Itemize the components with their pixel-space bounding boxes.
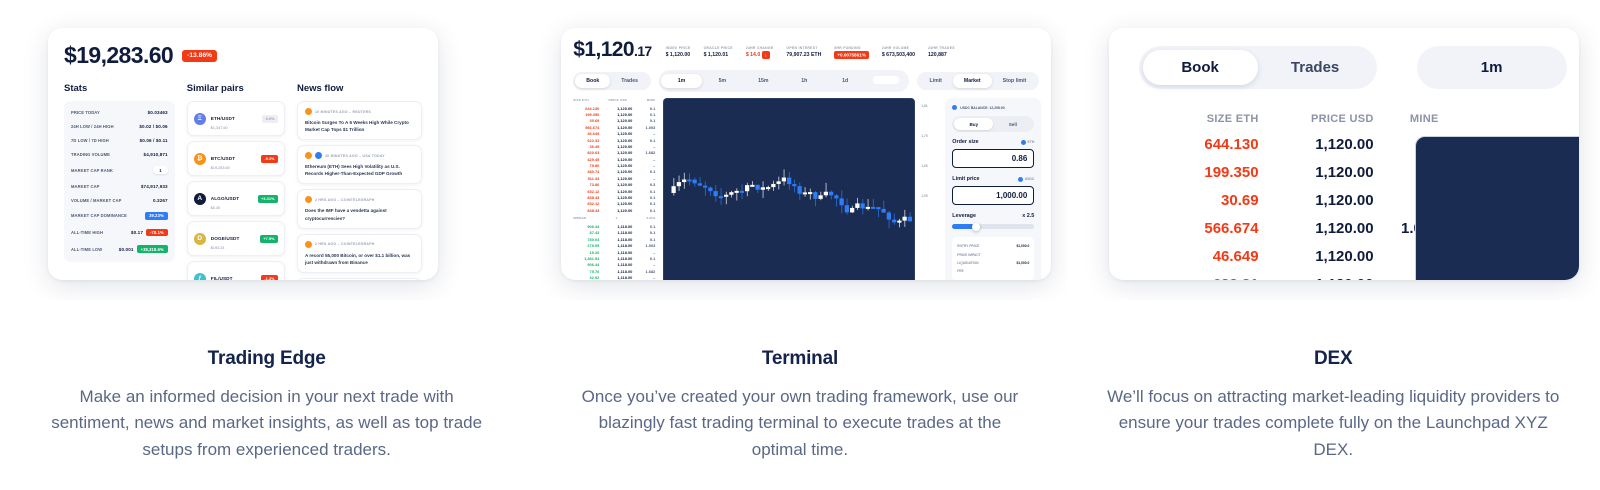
header-stat: ORACLE PRICE$ 1,120.01	[704, 46, 733, 59]
ob-size: 199.350	[573, 112, 599, 117]
ob-size: 429.49	[573, 157, 599, 162]
timeframe-15m[interactable]: 15m	[743, 74, 784, 88]
stat-rank-bubble: 1	[153, 166, 168, 174]
ob-size: 32.92	[573, 275, 599, 280]
book-trades-tabs[interactable]: BookTrades	[573, 72, 651, 90]
stat-number: $ 1,120.01	[704, 52, 729, 58]
dex-price: 1,120.00	[1259, 220, 1374, 237]
news-headline: Does the IMF have a vendetta against cry…	[305, 207, 414, 221]
ob-size: 838.43	[573, 195, 599, 200]
stat-value: $0.001 +38,318.6%	[119, 245, 168, 253]
news-item[interactable]: 2 HRS AGO – REUTERSNasdaq Composite Loss…	[297, 278, 422, 280]
ob-price: 1,118.00	[604, 250, 632, 255]
news-item[interactable]: 2 HRS AGO – COINTELEGRAPHDoes the IMF ha…	[297, 189, 422, 228]
stat-row: ALL-TIME LOW$0.001 +38,318.6%	[71, 241, 168, 258]
feature-title: Terminal	[533, 348, 1066, 370]
header-stat-value: $ 1,120.01	[704, 52, 733, 58]
news-item[interactable]: 10 MINUTES AGO – REUTERSBitcoin Surges T…	[297, 101, 422, 140]
orderbook-row[interactable]: 30.691,120.000.1	[571, 118, 657, 124]
ob-header-1: PRICE USD	[608, 98, 627, 102]
stat-row: PRICE TODAY$0.03463	[71, 105, 168, 119]
stat-badge: 39.23%	[145, 212, 168, 220]
news-timestamp: 10 MINUTES AGO – REUTERS	[315, 110, 371, 114]
terminal-body: SIZE ETHPRICE USDMINE 644.1301,120.000.1…	[561, 98, 1051, 280]
dex-row[interactable]: 46.6491,120.00–	[1139, 248, 1439, 265]
spread-pct: 0.01%	[647, 216, 656, 220]
header-stat-label: INDEX PRICE	[666, 46, 691, 50]
dex-header-price: PRICE USD	[1259, 113, 1374, 125]
pair-price: $193.24	[211, 246, 255, 250]
pair-change: -1.3%	[261, 275, 278, 281]
news-source-icon	[305, 152, 312, 159]
feature-cards-row: $19,283.60 -13.86% Stats PRICE TODAY$0.0…	[0, 0, 1600, 490]
summary-value: $1,000.0	[1016, 244, 1029, 248]
ob-mine: –	[637, 176, 655, 181]
ordertype-limit[interactable]: Limit	[919, 74, 953, 88]
ob-price: 1,118.00	[604, 262, 632, 267]
pair-price: $0.30	[211, 206, 253, 210]
stat-label: ALL-TIME LOW	[71, 247, 102, 252]
pair-row[interactable]: DDOGE/USDT$193.24+7.5%	[187, 221, 285, 256]
orderbook-row[interactable]: 780.041,118.000.1	[571, 236, 657, 242]
news-timestamp: 2 HRS AGO – COINTELEGRAPH	[315, 198, 375, 202]
stat-value: 1	[153, 166, 168, 174]
leverage-label: Leverage	[952, 213, 976, 219]
news-source-icon	[305, 196, 312, 203]
dex-size: 46.649	[1139, 248, 1259, 265]
ob-price: 1,118.00	[604, 275, 632, 280]
buy-sell-tabs[interactable]: BuySell	[952, 116, 1034, 132]
dex-chart-panel[interactable]	[1415, 136, 1579, 280]
dex-size: 622.31	[1139, 276, 1259, 280]
ob-price: 1,120.00	[604, 112, 632, 117]
stat-badge: -78.1%	[146, 229, 168, 237]
coin-icon: D	[194, 233, 206, 245]
axis-tick: 1,81	[921, 104, 939, 108]
orderbook-row[interactable]: 652.121,120.000.1	[571, 201, 657, 207]
summary-label: ENTRY PRICE	[957, 244, 979, 248]
news-list: 10 MINUTES AGO – REUTERSBitcoin Surges T…	[297, 101, 422, 280]
ob-price: 1,120.00	[604, 144, 632, 149]
ob-mine: –	[637, 157, 655, 162]
summary-row: ENTRY PRICE$1,000.0	[957, 242, 1029, 250]
orderbook-row[interactable]: 46.6491,120.00–	[571, 131, 657, 137]
ob-price: 1,120.00	[604, 208, 632, 213]
ob-price: 1,118.00	[604, 269, 632, 274]
orderbook-row[interactable]: 906.441,118.000.1	[571, 223, 657, 229]
pair-price: $1,347.60	[211, 126, 257, 130]
pair-price: $19,283.60	[211, 166, 256, 170]
stat-label: PRICE TODAY	[71, 110, 100, 115]
order-size-input[interactable]: 0.86	[952, 149, 1034, 168]
dex-price: 1,120.00	[1259, 248, 1374, 265]
usdc-balance-text: USDC BALANCE: 12,298.90	[960, 106, 1004, 110]
leverage-value: x 2.5	[1022, 213, 1034, 219]
orderbook[interactable]: SIZE ETHPRICE USDMINE 644.1301,120.000.1…	[571, 98, 657, 280]
stat-number: 79,907.23 ETH	[786, 52, 821, 58]
stat-label: 7D LOW / 7D HIGH	[71, 138, 109, 143]
terminal-price-decimal: .17	[634, 43, 652, 59]
pair-symbol: DOGE/USDT	[211, 236, 240, 241]
dex-size: 566.674	[1139, 220, 1259, 237]
side-sell[interactable]: Sell	[993, 118, 1032, 130]
orderbook-row[interactable]: 1,381.541,118.000.1	[571, 255, 657, 261]
stat-label: MARKET CAP RANK	[71, 168, 113, 173]
news-meta: 10 MINUTES AGO – REUTERS	[305, 108, 414, 115]
ob-mine: 1.682	[637, 269, 655, 274]
ob-size: 46.649	[573, 131, 599, 136]
dex-header-mine: MINE	[1374, 113, 1439, 125]
ob-mine: –	[637, 131, 655, 136]
ob-size: 644.130	[573, 106, 599, 111]
stat-row: 7D LOW / 7D HIGH$0.06 / $0.11	[71, 133, 168, 147]
orderbook-row[interactable]: 906.441,118.00–	[571, 262, 657, 268]
stat-value: $0.02 / $0.06	[139, 124, 167, 129]
leverage-slider[interactable]	[952, 224, 1034, 229]
pair-row[interactable]: ΞETH/USDT$1,347.600.0%	[187, 101, 285, 136]
ob-price: 1,120.00	[604, 182, 632, 187]
header-stat-value: +0.0075861%	[834, 52, 868, 58]
feature-description: Make an informed decision in your next t…	[39, 384, 494, 463]
pair-change: +7.5%	[260, 235, 278, 243]
dex-row[interactable]: 566.6741,120.001.003	[1139, 220, 1439, 237]
news-item[interactable]: 40 MINUTES AGO – USA TODAYEthereum (ETH)…	[297, 145, 422, 184]
ob-price: 1,120.00	[604, 131, 632, 136]
side-buy[interactable]: Buy	[954, 118, 993, 130]
ob-mine: 0.1	[637, 224, 655, 229]
stat-label: MARKET CAP DOMINANCE	[71, 213, 127, 218]
ob-mine: 0.1	[637, 237, 655, 242]
leverage-slider-fill	[952, 224, 973, 229]
pair-symbol: BTC/USDT	[211, 156, 236, 161]
spread-value: 1	[615, 216, 617, 220]
ob-price: 1,120.00	[604, 195, 632, 200]
ob-mine: –	[637, 144, 655, 149]
candlestick-chart[interactable]	[663, 98, 915, 280]
ob-size: 79.80	[573, 163, 599, 168]
ob-price: 1,120.00	[604, 106, 632, 111]
orderbook-row[interactable]: 279.951,118.001.003	[571, 243, 657, 249]
terminal-caption: Terminal Once you’ve created your own tr…	[533, 300, 1066, 463]
orderbook-row[interactable]: 79.801,120.00–	[571, 162, 657, 168]
header-stat: INDEX PRICE$ 1,120.00	[666, 46, 691, 59]
feature-trading-edge: $19,283.60 -13.86% Stats PRICE TODAY$0.0…	[0, 0, 533, 490]
stat-number: $ 673,503,400	[882, 52, 915, 58]
ob-mine: –	[637, 275, 655, 280]
dex-timeframe-label: 1m	[1421, 50, 1563, 85]
pair-info: BTC/USDT$19,283.60	[211, 147, 256, 170]
stat-row: TRADING VOLUME$4,910,871	[71, 148, 168, 162]
ob-price: 1,118.00	[604, 237, 632, 242]
dex-price: 1,120.00	[1259, 192, 1374, 209]
stat-value: $74,917,933	[141, 184, 168, 189]
ob-size: 1,381.54	[573, 256, 599, 261]
terminal-price-main: $1,120	[573, 38, 634, 61]
terminal-card[interactable]: $1,120.17 INDEX PRICE$ 1,120.00ORACLE PR…	[561, 28, 1051, 280]
header-stat-label: 24HR TRADES	[928, 46, 955, 50]
dex-timeframe-chip[interactable]: 1m	[1417, 46, 1567, 89]
pair-row[interactable]: AALGO/USDT$0.30+3.31%	[187, 181, 285, 216]
limit-price-unit-text: USDC	[1025, 177, 1035, 181]
feature-description: Once you’ve created your own trading fra…	[572, 384, 1027, 463]
candlestick-chart-wrap[interactable]	[663, 98, 915, 280]
header-stat: 8HR FUNDING+0.0075861%	[834, 46, 868, 59]
spread-label: SPREAD	[573, 216, 586, 220]
coin-icon: ₿	[194, 153, 206, 165]
ob-size: 79.76	[573, 269, 599, 274]
usdc-balance: USDC BALANCE: 12,298.90	[952, 105, 1034, 110]
dex-price: 1,120.00	[1259, 164, 1374, 181]
feature-title: Trading Edge	[0, 348, 533, 370]
news-timestamp: 40 MINUTES AGO – USA TODAY	[325, 154, 385, 158]
coin-icon: ƒ	[194, 273, 206, 281]
ob-price: 1,118.00	[604, 224, 632, 229]
ob-size: 566.674	[573, 125, 599, 130]
limit-price-input[interactable]: 1,000.00	[952, 186, 1034, 205]
timeframe-tabs[interactable]: 1m5m15m1h1d	[659, 70, 909, 92]
stat-value: $0.17 -78.1%	[131, 229, 168, 237]
pair-row[interactable]: ₿BTC/USDT$19,283.60-9.3%	[187, 141, 285, 176]
ob-size: 838.43	[573, 208, 599, 213]
summary-label: PRICE IMPACT	[957, 253, 980, 257]
stat-value: $0.06 / $0.11	[140, 138, 168, 143]
orderbook-bids: 906.441,118.000.187.431,118.000.1780.041…	[571, 223, 657, 280]
usdc-unit-icon	[1018, 177, 1023, 182]
ob-mine: 1.003	[637, 243, 655, 248]
orderbook-row[interactable]: 36.491,120.00–	[571, 143, 657, 149]
ob-mine: 0.1	[637, 201, 655, 206]
terminal-header-stats: INDEX PRICE$ 1,120.00ORACLE PRICE$ 1,120…	[666, 46, 955, 63]
ob-size: 87.43	[573, 230, 599, 235]
header-stat-value: $ 673,503,400	[882, 52, 915, 58]
stat-value: 39.23%	[145, 212, 168, 220]
orderbook-row[interactable]: 19.201,118.00–	[571, 249, 657, 255]
summary-label: LIQUIDATION	[957, 261, 978, 265]
orderbook-row[interactable]: 87.431,118.000.1	[571, 230, 657, 236]
ob-mine: 0.1	[637, 256, 655, 261]
header-stat-label: 24HR CHANGE	[746, 46, 774, 50]
leverage-row: Leverage x 2.5	[952, 213, 1034, 219]
stat-label: VOLUME / MARKET CAP	[71, 198, 122, 203]
tab-trades[interactable]: Trades	[610, 74, 649, 88]
pair-symbol: ALGO/USDT	[211, 196, 240, 201]
pair-info: DOGE/USDT$193.24	[211, 227, 255, 250]
trading-edge-card[interactable]: $19,283.60 -13.86% Stats PRICE TODAY$0.0…	[48, 28, 438, 280]
news-meta: 2 HRS AGO – COINTELEGRAPH	[305, 196, 414, 203]
orderbook-row[interactable]: 199.3501,120.000.1	[571, 111, 657, 117]
orderbook-row[interactable]: 79.761,118.001.682	[571, 268, 657, 274]
eth-icon	[1021, 140, 1026, 145]
news-headline: Bitcoin Surges To A 6 Weeks High While C…	[305, 119, 414, 133]
terminal-price: $1,120.17	[573, 38, 651, 62]
dex-card[interactable]: BookTrades 1m SIZE ETH PRICE USD MINE 64…	[1109, 28, 1579, 280]
dex-row[interactable]: 199.3501,120.000.1	[1139, 164, 1439, 181]
orderbook-headers: SIZE ETHPRICE USDMINE	[571, 98, 657, 105]
ob-mine: 0.1	[637, 106, 655, 111]
header-stat-value: $ 14.0 ↓	[746, 52, 774, 58]
ob-size: 279.95	[573, 243, 599, 248]
ob-mine: –	[637, 262, 655, 267]
stat-value: 0.3267	[153, 198, 168, 203]
ob-size: 780.04	[573, 237, 599, 242]
feature-title: DEX	[1067, 348, 1600, 370]
header-stat-value: 79,907.23 ETH	[786, 52, 821, 58]
summary-label: FEE	[957, 269, 963, 273]
stat-row: ALL-TIME HIGH$0.17 -78.1%	[71, 224, 168, 241]
dex-price: 1,120.00	[1259, 136, 1374, 153]
stat-row: MARKET CAP$74,917,933	[71, 179, 168, 193]
price-axis: 1,811,701,601,50	[921, 98, 939, 280]
ob-price: 1,120.00	[604, 189, 632, 194]
timeframe-5m[interactable]: 5m	[702, 74, 743, 88]
direction-icon: ↓	[762, 51, 770, 59]
price-header: $19,283.60 -13.86%	[64, 42, 422, 69]
orderbook-row[interactable]: 911.341,120.00–	[571, 175, 657, 181]
orderbook-row[interactable]: 73.861,120.000.3	[571, 182, 657, 188]
ob-mine: 0.1	[637, 195, 655, 200]
ordertype-market[interactable]: Market	[953, 74, 992, 88]
ob-mine: 0.1	[637, 138, 655, 143]
dex-size: 644.130	[1139, 136, 1259, 153]
ob-price: 1,120.00	[604, 150, 632, 155]
ob-size: 622.31	[573, 138, 599, 143]
ob-size: 30.69	[573, 118, 599, 123]
header-stat-label: ORACLE PRICE	[704, 46, 733, 50]
header-stat-label: 8HR FUNDING	[834, 46, 868, 50]
dex-price: 1,120.00	[1259, 276, 1374, 280]
axis-tick: 1,70	[921, 134, 939, 138]
header-stat: OPEN INTEREST79,907.23 ETH	[786, 46, 821, 59]
header-stat-label: OPEN INTEREST	[786, 46, 821, 50]
order-summary: ENTRY PRICE$1,000.0PRICE IMPACTLIQUIDATI…	[952, 237, 1034, 280]
ob-size: 480.74	[573, 169, 599, 174]
news-flow-title: News flow	[297, 83, 422, 94]
axis-tick: 1,60	[921, 164, 939, 168]
ob-price: 1,120.00	[604, 201, 632, 206]
news-item[interactable]: 2 HRS AGO – COINTELEGRAPHA record 55,000…	[297, 234, 422, 273]
orderbook-row[interactable]: 480.741,120.000.1	[571, 169, 657, 175]
limit-price-label: Limit price	[952, 176, 979, 182]
orderbook-row[interactable]: 838.431,120.000.1	[571, 207, 657, 213]
ob-size: 73.86	[573, 182, 599, 187]
leverage-slider-knob[interactable]	[972, 223, 980, 231]
candlestick-svg	[664, 99, 914, 280]
ob-mine: 0.1	[637, 112, 655, 117]
stats-title: Stats	[64, 83, 175, 94]
orderbook-row[interactable]: 622.311,120.000.1	[571, 137, 657, 143]
stat-row: 24H LOW / 24H HIGH$0.02 / $0.06	[71, 119, 168, 133]
timeframe-1h[interactable]: 1h	[784, 74, 825, 88]
dex-row[interactable]: 644.1301,120.000.1	[1139, 136, 1439, 153]
order-size-unit-text: ETH	[1028, 140, 1035, 144]
limit-price-row: Limit price USDC	[952, 176, 1034, 182]
order-size-unit: ETH	[1021, 140, 1035, 145]
ordertype-stop-limit[interactable]: Stop limit	[992, 74, 1038, 88]
timeframe-1m[interactable]: 1m	[661, 74, 702, 88]
similar-pairs-column: Similar pairs ΞETH/USDT$1,347.600.0%₿BTC…	[187, 83, 285, 280]
order-panel[interactable]: USDC BALANCE: 12,298.90 BuySell Order si…	[945, 98, 1041, 280]
pair-change: +3.31%	[258, 195, 278, 203]
dex-book-trades-tabs[interactable]: BookTrades	[1139, 46, 1377, 89]
summary-row: PRICE IMPACT	[957, 250, 1029, 258]
ob-size: 906.44	[573, 224, 599, 229]
orderbook-row[interactable]: 566.6741,120.001.003	[571, 124, 657, 130]
stat-row: VOLUME / MARKET CAP0.3267	[71, 193, 168, 207]
dex-row[interactable]: 30.691,120.000.1	[1139, 192, 1439, 209]
orderbook-row[interactable]: 838.431,120.000.1	[571, 194, 657, 200]
orderbook-row[interactable]: 32.921,118.00–	[571, 274, 657, 280]
ob-price: 1,118.00	[604, 256, 632, 261]
dex-header-size: SIZE ETH	[1139, 113, 1259, 125]
feature-terminal: $1,120.17 INDEX PRICE$ 1,120.00ORACLE PR…	[533, 0, 1066, 490]
news-meta: 2 HRS AGO – COINTELEGRAPH	[305, 241, 414, 248]
orderbook-row[interactable]: 429.491,120.00–	[571, 156, 657, 162]
ob-price: 1,118.00	[604, 230, 632, 235]
pair-row[interactable]: ƒFIL/USDT$4.93-1.3%	[187, 261, 285, 280]
header-stat-value: $ 1,120.00	[666, 52, 691, 58]
stat-number: 120,887	[928, 52, 947, 58]
news-meta: 40 MINUTES AGO – USA TODAY	[305, 152, 414, 159]
ob-mine: –	[637, 163, 655, 168]
ob-size: 652.12	[573, 201, 599, 206]
orderbook-row[interactable]: 652.121,120.000.1	[571, 188, 657, 194]
ob-mine: 1.682	[637, 150, 655, 155]
ob-size: 820.63	[573, 150, 599, 155]
ob-price: 1,120.00	[604, 138, 632, 143]
ob-size: 652.12	[573, 189, 599, 194]
summary-value: $1,000.0	[1016, 261, 1029, 265]
dex-tab-trades[interactable]: Trades	[1258, 50, 1373, 85]
stat-value: $4,910,871	[144, 152, 168, 157]
news-headline: A record 55,000 Bitcoin, or over $1.1 bi…	[305, 252, 414, 266]
dex-row[interactable]: 622.311,120.000.1	[1139, 276, 1439, 280]
terminal-visual: $1,120.17 INDEX PRICE$ 1,120.00ORACLE PR…	[533, 0, 1066, 300]
news-source-icon	[315, 152, 322, 159]
ob-mine: –	[637, 250, 655, 255]
ob-header-0: SIZE ETH	[573, 98, 589, 102]
header-stat: 24HR VOLUME$ 673,503,400	[882, 46, 915, 59]
dex-caption: DEX We’ll focus on attracting market-lea…	[1067, 300, 1600, 463]
ob-header-2: MINE	[647, 98, 656, 102]
news-source-icon	[305, 241, 312, 248]
dex-tab-book[interactable]: Book	[1143, 50, 1258, 85]
dex-table-headers: SIZE ETH PRICE USD MINE	[1139, 113, 1439, 125]
stat-tag: +0.0075861%	[834, 51, 868, 59]
orderbook-spread: SPREAD 1 0.01%	[571, 213, 657, 223]
order-size-label: Order size	[952, 139, 978, 145]
ob-size: 19.20	[573, 250, 599, 255]
dex-size: 30.69	[1139, 192, 1259, 209]
ob-mine: 0.1	[637, 169, 655, 174]
orderbook-row[interactable]: 820.631,120.001.682	[571, 150, 657, 156]
ob-price: 1,120.00	[604, 169, 632, 174]
timeframe-input[interactable]	[866, 72, 907, 90]
coin-icon: A	[194, 193, 206, 205]
order-size-row: Order size ETH	[952, 139, 1034, 145]
terminal-header: $1,120.17 INDEX PRICE$ 1,120.00ORACLE PR…	[561, 38, 1051, 62]
usdc-icon	[952, 105, 957, 110]
header-stat: 24HR TRADES120,887	[928, 46, 955, 59]
stat-row: MARKET CAP DOMINANCE39.23%	[71, 207, 168, 224]
tab-book[interactable]: Book	[575, 74, 610, 88]
pair-info: ETH/USDT$1,347.60	[211, 107, 257, 130]
order-type-tabs[interactable]: LimitMarketStop limit	[917, 72, 1040, 90]
timeframe-1d[interactable]: 1d	[825, 74, 866, 88]
orderbook-row[interactable]: 644.1301,120.000.1	[571, 105, 657, 111]
pair-change: 0.0%	[262, 115, 278, 123]
ob-price: 1,120.00	[604, 176, 632, 181]
trading-edge-visual: $19,283.60 -13.86% Stats PRICE TODAY$0.0…	[0, 0, 533, 300]
